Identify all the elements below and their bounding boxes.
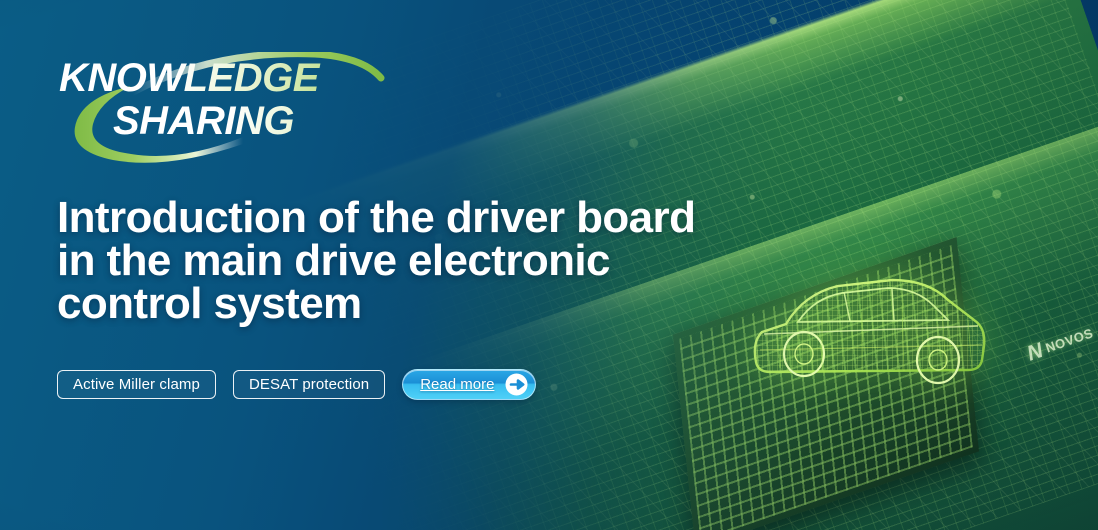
logo-line-knowledge: KNOWLEDGE — [59, 58, 397, 98]
banner-content: KNOWLEDGE SHARING Introduction of the dr… — [0, 0, 1098, 400]
read-more-button[interactable]: Read more — [402, 369, 536, 400]
logo-line-sharing: SHARING — [113, 101, 397, 141]
headline-line-2: in the main drive electronic — [57, 239, 787, 282]
page-title: Introduction of the driver board in the … — [57, 196, 787, 325]
tag-active-miller-clamp[interactable]: Active Miller clamp — [57, 370, 216, 399]
headline-line-3: control system — [57, 282, 787, 325]
knowledge-sharing-logo: KNOWLEDGE SHARING — [57, 58, 397, 168]
arrow-right-circle-icon — [505, 373, 528, 396]
logo-wordmark: KNOWLEDGE SHARING — [57, 58, 397, 141]
knowledge-sharing-banner: N NOVOS — [0, 0, 1098, 530]
headline-line-1: Introduction of the driver board — [57, 196, 787, 239]
banner-actions: Active Miller clamp DESAT protection Rea… — [57, 369, 1098, 400]
read-more-label: Read more — [420, 376, 494, 393]
tag-desat-protection[interactable]: DESAT protection — [233, 370, 385, 399]
